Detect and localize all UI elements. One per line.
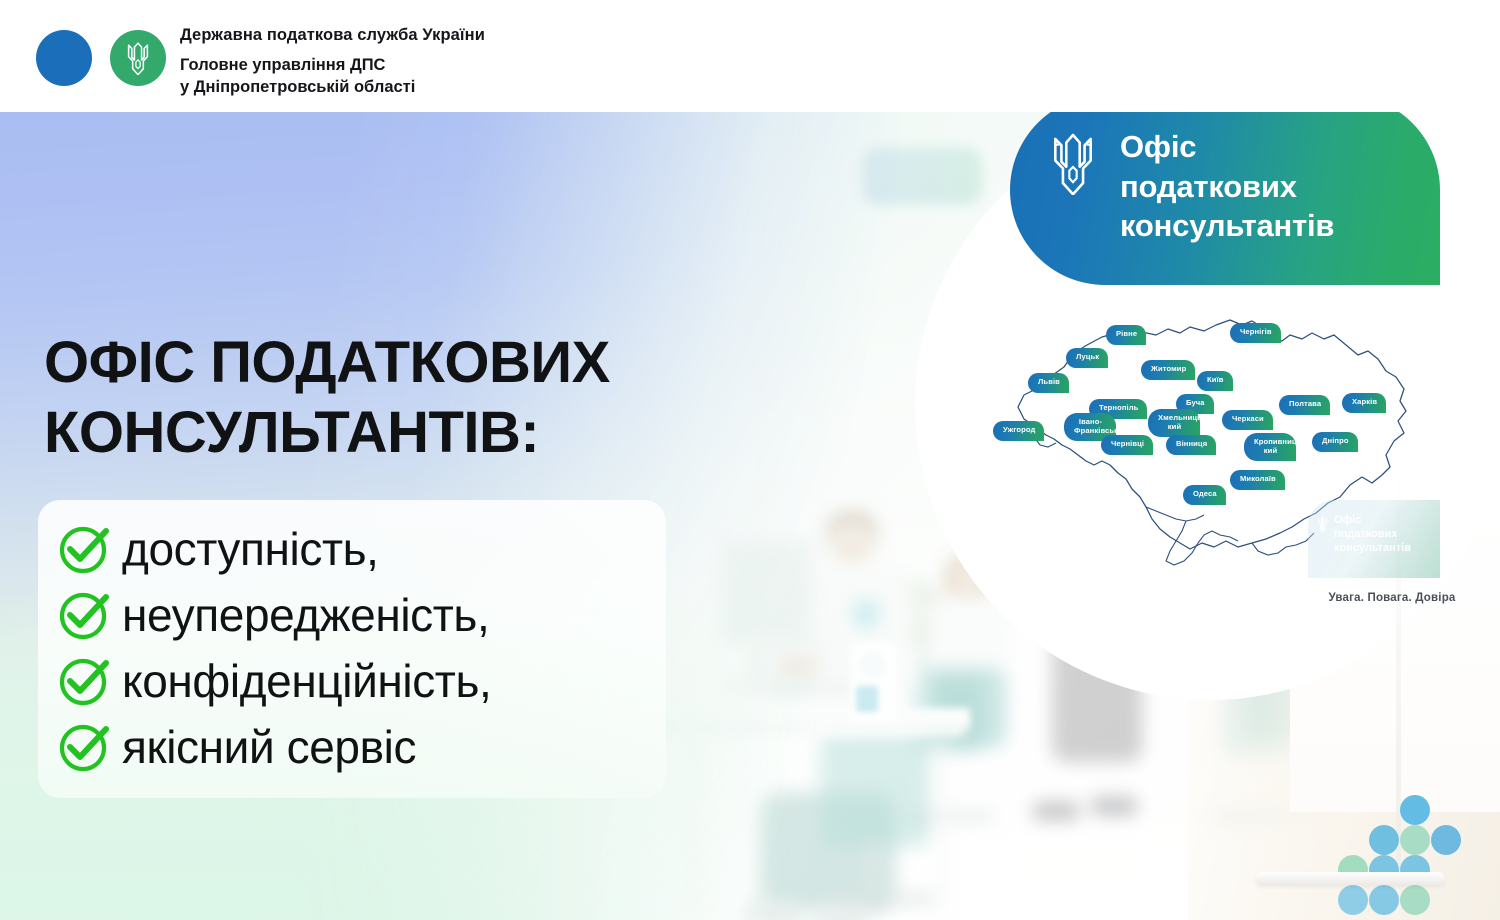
logo-card-line2: податкових: [1120, 167, 1334, 207]
tryzub-icon: [125, 41, 151, 75]
map-city-label[interactable]: Кропивницький: [1244, 433, 1296, 461]
map-caption: Увага. Повага. Довіра: [1292, 592, 1492, 604]
benefit-item: доступність,: [56, 516, 648, 582]
decorative-dot: [1431, 825, 1461, 855]
site-header: Державна податкова служба України Головн…: [0, 0, 1500, 112]
map-city-label[interactable]: Хмельницький: [1148, 409, 1200, 437]
map-city-label[interactable]: Ужгород: [993, 421, 1044, 441]
poster-canvas: РівнеЛуцькЧернігівЖитомирКиївЛьвівБучаТе…: [0, 0, 1500, 920]
org-department-line1: Головне управління ДПС: [180, 55, 740, 77]
rollup-watermark-text: Офіс податкових консультантів: [1334, 514, 1411, 555]
tryzub-icon: [1316, 515, 1329, 533]
map-city-label[interactable]: Дніпро: [1312, 432, 1358, 452]
map-city-label[interactable]: Житомир: [1141, 360, 1195, 380]
map-city-label[interactable]: Одеса: [1183, 485, 1226, 505]
check-circle-icon: [56, 520, 114, 578]
map-city-label[interactable]: Полтава: [1279, 395, 1330, 415]
logo-blue-circle-icon: [36, 30, 92, 86]
map-city-label[interactable]: Вінниця: [1166, 435, 1216, 455]
decorative-dot: [1400, 885, 1430, 915]
tryzub-icon: [1050, 131, 1096, 195]
logo-card-line1: Офіс: [1120, 127, 1334, 167]
office-logo-text: Офіс податкових консультантів: [1120, 127, 1334, 246]
map-city-label[interactable]: Рівне: [1106, 325, 1146, 345]
decorative-dot: [1369, 885, 1399, 915]
benefit-item: неупередженість,: [56, 582, 648, 648]
decorative-dot: [1338, 885, 1368, 915]
map-city-label[interactable]: Черкаси: [1222, 410, 1273, 430]
benefit-item: якісний сервіс: [56, 714, 648, 780]
headline-line1: ОФІС ПОДАТКОВИХ: [44, 328, 764, 398]
org-name: Державна податкова служба України: [180, 26, 740, 46]
dps-logo: [36, 30, 176, 86]
headline-line2: КОНСУЛЬТАНТІВ:: [44, 398, 764, 468]
org-department-line2: у Дніпропетровській області: [180, 77, 740, 99]
benefit-label: доступність,: [122, 526, 379, 572]
wm-line3: консультантів: [1334, 542, 1411, 556]
logo-card-line3: консультантів: [1120, 206, 1334, 246]
decorative-dot: [1400, 825, 1430, 855]
check-circle-icon: [56, 718, 114, 776]
rollup-watermark-card: Офіс податкових консультантів: [1308, 500, 1440, 578]
wm-line2: податкових: [1334, 528, 1411, 542]
check-circle-icon: [56, 652, 114, 710]
decorative-dot: [1369, 825, 1399, 855]
benefit-item: конфіденційність,: [56, 648, 648, 714]
wm-line1: Офіс: [1334, 514, 1411, 528]
benefit-label: якісний сервіс: [122, 724, 416, 770]
rollup-banner-foot: [1255, 872, 1445, 885]
office-logo-card: Офіс податкових консультантів: [1010, 95, 1440, 285]
map-city-label[interactable]: Луцьк: [1066, 348, 1108, 368]
map-city-label[interactable]: Чернівці: [1101, 435, 1153, 455]
map-city-label[interactable]: Київ: [1197, 371, 1233, 391]
map-city-label[interactable]: Чернігів: [1230, 323, 1281, 343]
decorative-dot: [1400, 795, 1430, 825]
map-city-label[interactable]: Харків: [1342, 393, 1386, 413]
org-department: Головне управління ДПС у Дніпропетровськ…: [180, 55, 740, 99]
benefit-label: конфіденційність,: [122, 658, 491, 704]
check-circle-icon: [56, 586, 114, 644]
benefit-label: неупередженість,: [122, 592, 489, 638]
map-city-label[interactable]: Львів: [1028, 373, 1069, 393]
logo-green-circle-icon: [110, 30, 166, 86]
map-city-label[interactable]: Миколаїв: [1230, 470, 1285, 490]
header-org-text: Державна податкова служба України Головн…: [180, 26, 740, 99]
page-title: ОФІС ПОДАТКОВИХ КОНСУЛЬТАНТІВ:: [44, 328, 764, 467]
benefits-list: доступність,неупередженість,конфіденційн…: [38, 500, 666, 798]
